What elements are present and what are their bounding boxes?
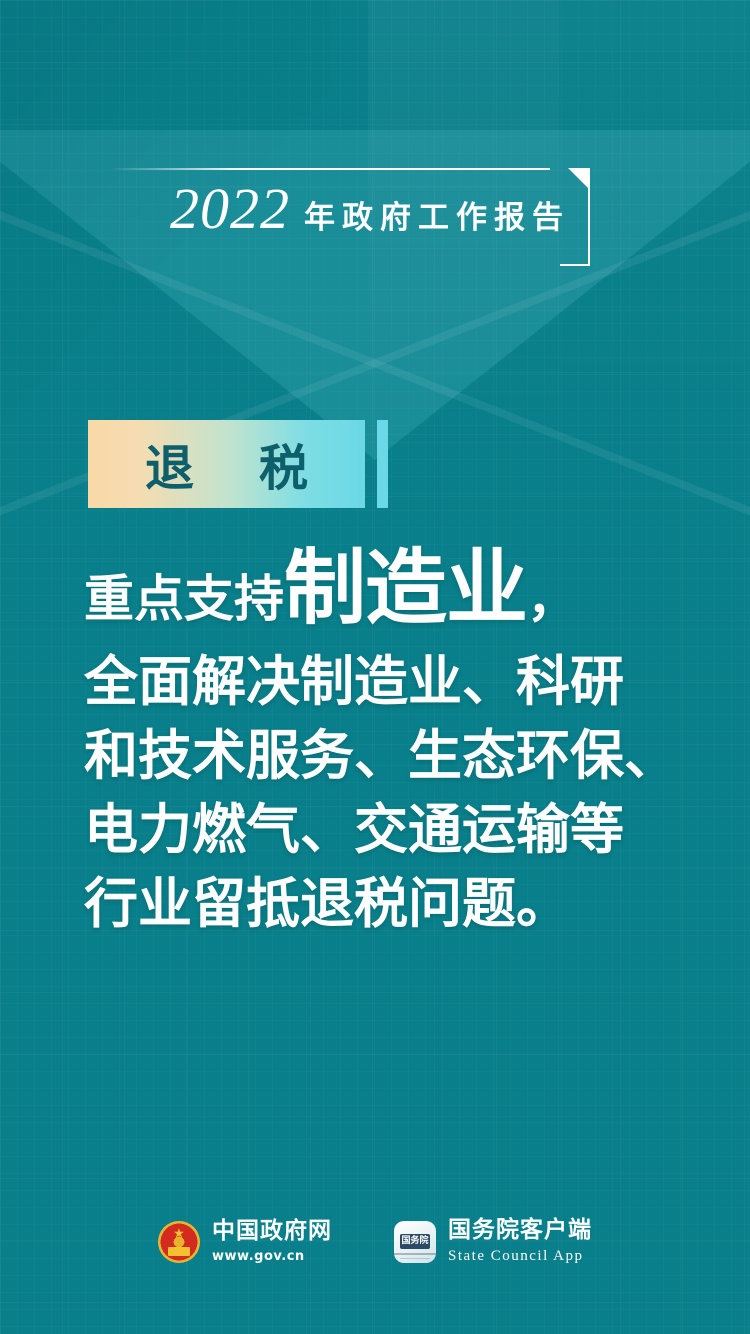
logo-china-gov-name: 中国政府网 bbox=[212, 1220, 332, 1243]
header-year: 2022 bbox=[170, 180, 290, 238]
topic-badge-row: 退 税 bbox=[88, 420, 388, 508]
copy-line-1-emphasis: 制造业 bbox=[284, 548, 527, 630]
emblem-star-icon: ★ bbox=[173, 1227, 185, 1240]
logo-state-council-subtitle: State Council App bbox=[448, 1249, 592, 1264]
logo-china-gov-text: 中国政府网 www.gov.cn bbox=[212, 1220, 332, 1263]
report-header: 2022 年政府工作报告 bbox=[110, 168, 590, 266]
copy-line-1-lead: 重点支持 bbox=[84, 553, 284, 645]
app-icon-line-2 bbox=[400, 1258, 430, 1259]
logo-state-council-name: 国务院客户端 bbox=[448, 1219, 592, 1242]
copy-line-1-comma: ， bbox=[527, 553, 577, 645]
topic-badge-label: 退 税 bbox=[121, 429, 332, 500]
header-bottom-rule bbox=[560, 264, 590, 266]
footer-logos: ★ 中国政府网 www.gov.cn 国务院 国务院客户端 State Coun… bbox=[0, 1219, 750, 1264]
copy-line-4: 电力燃气、交通运输等 bbox=[84, 793, 684, 867]
app-icon-line-1 bbox=[394, 1253, 436, 1255]
badge-accent-bar bbox=[377, 420, 388, 508]
copy-line-5: 行业留抵退税问题。 bbox=[84, 867, 684, 941]
header-title-text: 年政府工作报告 bbox=[304, 192, 570, 237]
state-council-app-icon: 国务院 bbox=[394, 1221, 436, 1263]
header-corner-notch-icon bbox=[568, 168, 590, 190]
logo-state-council-app[interactable]: 国务院 国务院客户端 State Council App bbox=[394, 1219, 592, 1264]
copy-line-1: 重点支持 制造业 ， bbox=[84, 548, 684, 645]
copy-line-2: 全面解决制造业、科研 bbox=[84, 645, 684, 719]
poster-canvas: 2022 年政府工作报告 退 税 重点支持 制造业 ， 全面解决制造业、科研 和… bbox=[0, 0, 750, 1334]
emblem-gate-icon bbox=[168, 1247, 190, 1256]
header-top-rule bbox=[110, 168, 550, 170]
logo-china-gov-url: www.gov.cn bbox=[212, 1250, 332, 1263]
copy-line-3: 和技术服务、生态环保、 bbox=[84, 719, 684, 793]
national-emblem-icon: ★ bbox=[158, 1221, 200, 1263]
app-icon-label: 国务院 bbox=[400, 1234, 430, 1249]
topic-badge: 退 税 bbox=[88, 420, 365, 508]
main-copy: 重点支持 制造业 ， 全面解决制造业、科研 和技术服务、生态环保、 电力燃气、交… bbox=[84, 548, 684, 941]
logo-china-gov[interactable]: ★ 中国政府网 www.gov.cn bbox=[158, 1220, 332, 1263]
logo-state-council-text: 国务院客户端 State Council App bbox=[448, 1219, 592, 1264]
header-right-rule bbox=[588, 186, 590, 266]
header-title: 2022 年政府工作报告 bbox=[170, 180, 570, 238]
